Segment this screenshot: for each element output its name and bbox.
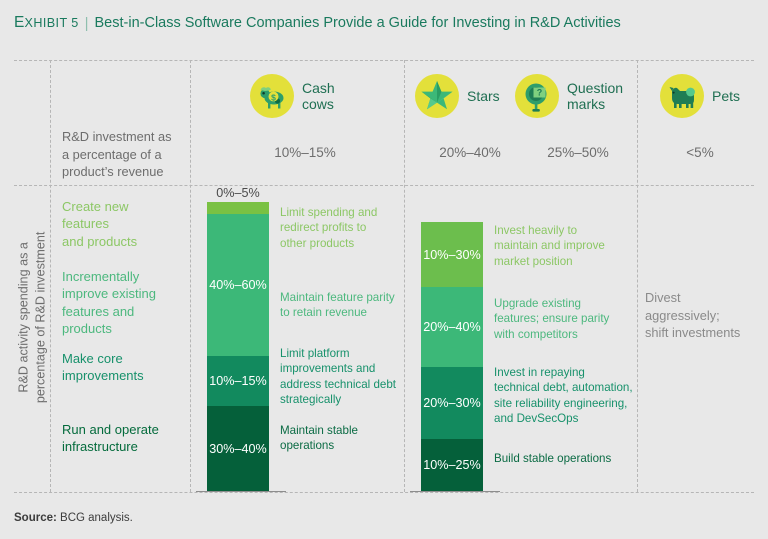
bar-segment-make-core-improvements: 10%–15%	[207, 356, 269, 406]
quadrant-header-pets: Pets	[660, 72, 740, 120]
bar-segment-value: 20%–40%	[423, 320, 480, 334]
source-line: Source: BCG analysis.	[14, 512, 133, 524]
rnd-pct-pets: <5%	[645, 145, 755, 160]
bar-segment-incrementally-improve: 40%–60%	[207, 214, 269, 356]
annotation-cash-cows-incrementally-improve: Maintain feature parity to retain revenu…	[280, 290, 402, 321]
quadrant-header-stars: Stars	[415, 72, 500, 120]
cash-cows-baseline	[196, 491, 286, 492]
y-axis-label: R&D activity spending as a percentage of…	[16, 192, 51, 442]
annotation-stars-run-operate: Build stable operations	[494, 451, 636, 466]
page-title: Best-in-Class Software Companies Provide…	[95, 15, 621, 31]
bar-segment-run-operate-infrastructure: 10%–25%	[421, 439, 483, 491]
bar-segment-incrementally-improve: 20%–40%	[421, 287, 483, 367]
bar-segment-make-core-improvements: 20%–30%	[421, 367, 483, 439]
quadrant-label-stars: Stars	[467, 88, 500, 104]
bar-segment-value: 40%–60%	[209, 278, 266, 292]
annotation-cash-cows-make-core: Limit platform improvements and address …	[280, 346, 402, 407]
rnd-pct-cash-cows: 10%–15%	[245, 145, 365, 160]
quadrant-label-pets: Pets	[712, 88, 740, 104]
stars-baseline	[410, 491, 500, 492]
bar-segment-value: 10%–30%	[423, 248, 480, 262]
title-separator: |	[85, 15, 89, 32]
divider-horizontal-bottom	[14, 492, 754, 493]
exhibit-number-label: EXHIBIT 5	[14, 14, 79, 32]
annotation-stars-make-core: Invest in repaying technical debt, autom…	[494, 365, 636, 426]
quadrant-header-question-marks: ? Question marks	[515, 72, 623, 120]
annotation-stars-incrementally-improve: Upgrade existing features; ensure parity…	[494, 296, 630, 342]
divider-horizontal-middle	[14, 185, 754, 186]
svg-text:$: $	[271, 92, 276, 102]
bar-segment-create-new-features: 0%–5%	[207, 202, 269, 214]
rnd-pct-question-marks: 25%–50%	[518, 145, 638, 160]
cash-cow-icon: $	[250, 74, 294, 118]
bar-segment-value: 10%–15%	[209, 374, 266, 388]
bar-segment-value: 10%–25%	[423, 458, 480, 472]
annotation-stars-create-new: Invest heavily to maintain and improve m…	[494, 223, 630, 269]
svg-text:?: ?	[537, 88, 543, 98]
annotation-cash-cows-run-operate: Maintain stable operations	[280, 423, 398, 454]
exhibit-title-bar: EXHIBIT 5 | Best-in-Class Software Compa…	[14, 10, 754, 36]
cash-cows-bar: 0%–5% 40%–60% 10%–15% 30%–40%	[207, 202, 269, 491]
quadrant-label-cash-cows: Cash cows	[302, 80, 335, 112]
pet-dog-icon	[660, 74, 704, 118]
quadrant-header-cash-cows: $ Cash cows	[250, 72, 335, 120]
annotation-cash-cows-create-new: Limit spending and redirect profits to o…	[280, 205, 398, 251]
rnd-investment-row-label: R&D investment as a percentage of a prod…	[62, 128, 192, 181]
divider-horizontal-top	[14, 60, 754, 61]
pets-divest-text: Divest aggressively; shift investments	[645, 289, 763, 342]
bar-segment-value: 20%–30%	[423, 396, 480, 410]
star-icon	[415, 74, 459, 118]
question-mark-icon: ?	[515, 74, 559, 118]
row-label-create-new-features: Create new features and products	[62, 198, 192, 250]
divider-vertical-right	[637, 60, 638, 492]
source-text: BCG analysis.	[57, 512, 133, 524]
stars-bar: 10%–30% 20%–40% 20%–30% 10%–25%	[421, 222, 483, 491]
source-label: Source:	[14, 512, 57, 524]
bar-segment-create-new-features: 10%–30%	[421, 222, 483, 287]
row-label-make-core-improvements: Make core improvements	[62, 350, 192, 385]
bar-segment-run-operate-infrastructure: 30%–40%	[207, 406, 269, 491]
bar-segment-value: 0%–5%	[216, 186, 259, 200]
divider-vertical-mid	[404, 60, 405, 492]
row-label-incrementally-improve: Incrementally improve existing features …	[62, 268, 192, 337]
bar-segment-value: 30%–40%	[209, 442, 266, 456]
row-label-run-operate-infrastructure: Run and operate infrastructure	[62, 421, 192, 456]
rnd-pct-stars: 20%–40%	[410, 145, 530, 160]
quadrant-label-question-marks: Question marks	[567, 80, 623, 112]
